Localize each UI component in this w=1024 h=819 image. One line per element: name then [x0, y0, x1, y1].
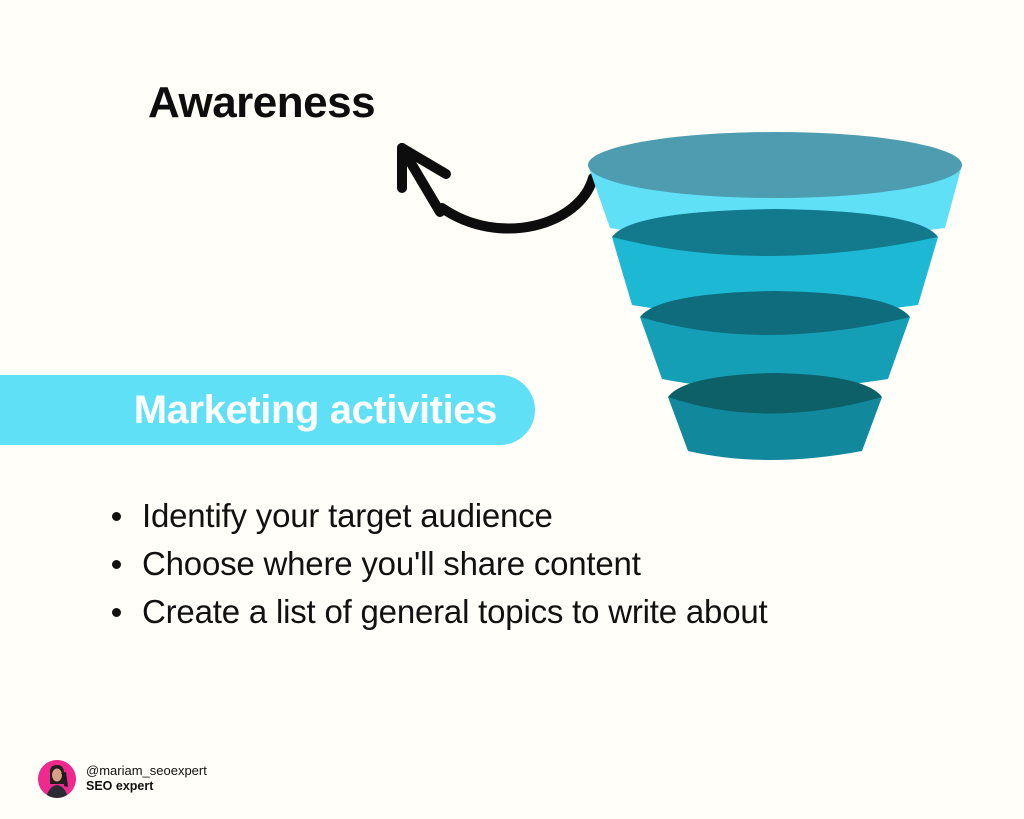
bullet-icon	[112, 608, 121, 617]
credit-handle: @mariam_seoexpert	[86, 764, 207, 779]
infographic-canvas: Awareness Marketing activitie	[0, 0, 1024, 819]
bullet-icon	[112, 512, 121, 521]
list-item: Identify your target audience	[110, 492, 790, 540]
avatar	[38, 760, 76, 798]
list-item-label: Create a list of general topics to write…	[142, 593, 767, 630]
list-item: Create a list of general topics to write…	[110, 588, 790, 636]
funnel-segment-conversion	[668, 373, 882, 460]
stage-title: Awareness	[148, 78, 375, 128]
banner-label: Marketing activities	[134, 388, 497, 433]
marketing-activities-banner: Marketing activities	[0, 375, 535, 445]
activities-list: Identify your target audience Choose whe…	[110, 492, 790, 636]
credit-text: @mariam_seoexpert SEO expert	[86, 764, 207, 793]
list-item-label: Choose where you'll share content	[142, 545, 641, 582]
credit-role: SEO expert	[86, 779, 207, 793]
bullet-icon	[112, 560, 121, 569]
author-credit: @mariam_seoexpert SEO expert	[38, 760, 207, 798]
list-item-label: Identify your target audience	[142, 497, 553, 534]
profile-avatar-icon	[38, 760, 76, 798]
list-item: Choose where you'll share content	[110, 540, 790, 588]
marketing-funnel-icon	[570, 125, 980, 470]
